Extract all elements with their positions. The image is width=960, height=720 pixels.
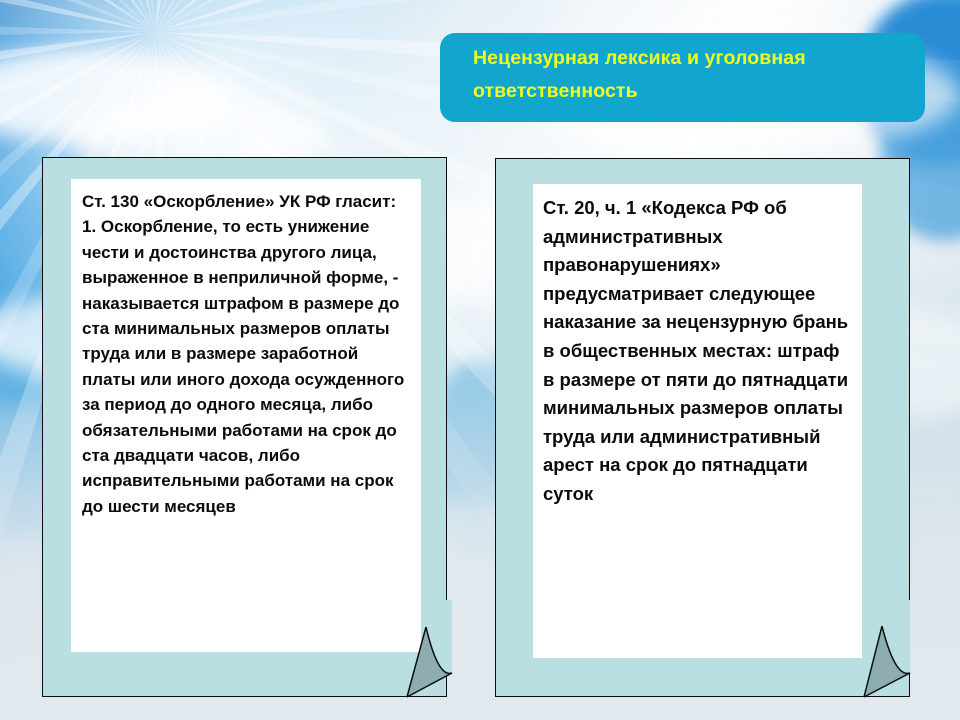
criminal-code-text: Ст. 130 «Оскорбление» УК РФ гласит: 1. О…: [82, 189, 409, 519]
slide-title: Нецензурная лексика и уголовная ответств…: [473, 42, 903, 108]
slide-title-banner: Нецензурная лексика и уголовная ответств…: [440, 33, 925, 122]
criminal-code-card-body: Ст. 130 «Оскорбление» УК РФ гласит: 1. О…: [71, 179, 421, 652]
presentation-slide: Нецензурная лексика и уголовная ответств…: [0, 0, 960, 720]
administrative-code-card-body: Ст. 20, ч. 1 «Кодекса РФ об администрати…: [533, 184, 862, 658]
administrative-code-text: Ст. 20, ч. 1 «Кодекса РФ об администрати…: [543, 194, 852, 509]
administrative-code-card: Ст. 20, ч. 1 «Кодекса РФ об администрати…: [495, 158, 910, 697]
criminal-code-card: Ст. 130 «Оскорбление» УК РФ гласит: 1. О…: [42, 157, 447, 697]
